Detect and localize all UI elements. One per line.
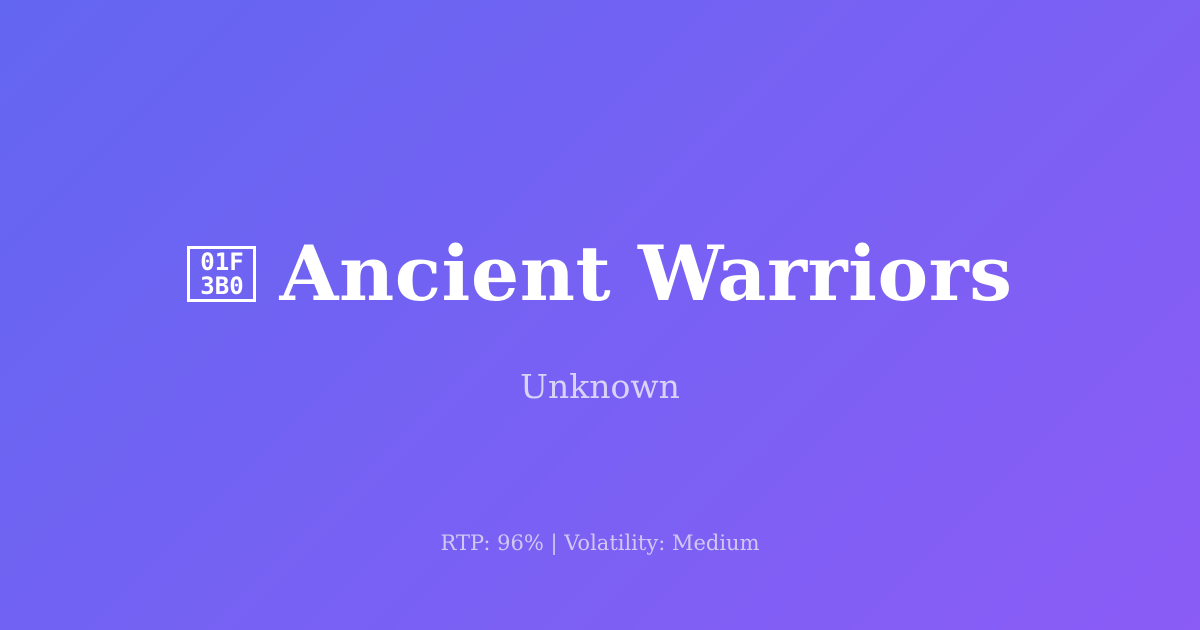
- slot-machine-icon-codepoint-top: 01F: [200, 250, 243, 274]
- provider-name: Unknown: [0, 365, 1200, 409]
- game-preview-card: 01F 3B0 Ancient Warriors Unknown RTP: 96…: [0, 0, 1200, 630]
- page-title: Ancient Warriors: [279, 231, 1012, 317]
- slot-machine-icon: 01F 3B0: [187, 246, 256, 302]
- game-stats: RTP: 96% | Volatility: Medium: [0, 528, 1200, 558]
- title-row: 01F 3B0 Ancient Warriors: [0, 231, 1200, 317]
- slot-machine-icon-codepoint-bottom: 3B0: [200, 274, 243, 298]
